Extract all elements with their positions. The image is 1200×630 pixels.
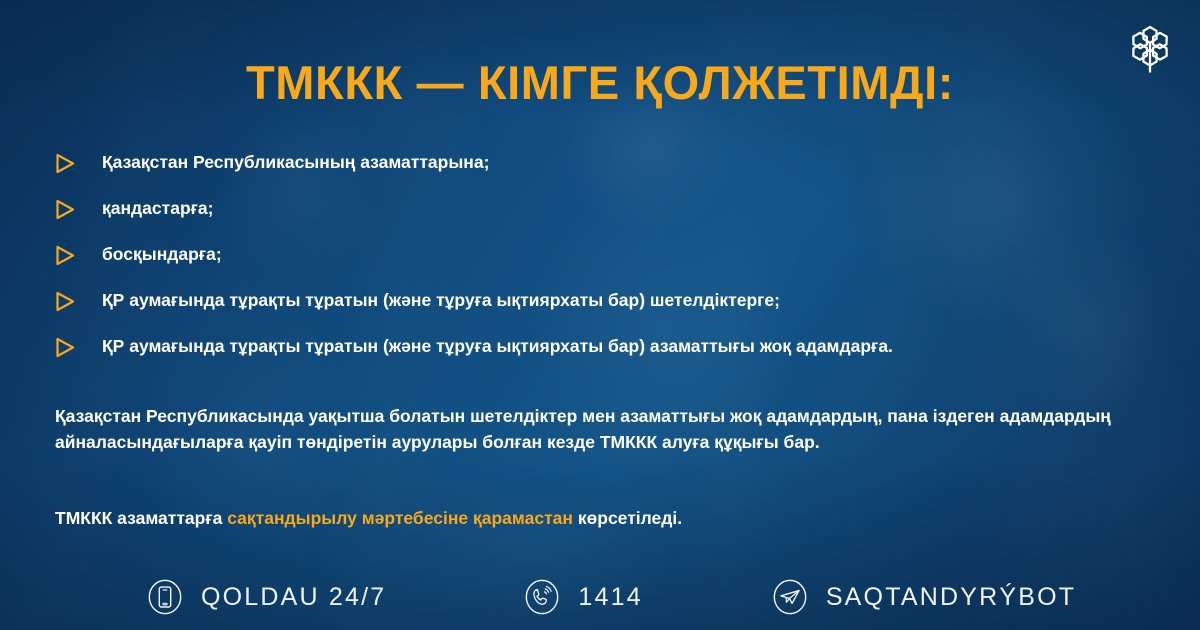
eligibility-list: Қазақстан Республикасының азаматтарына; …: [55, 152, 1155, 362]
smartphone-icon: [146, 578, 184, 616]
list-item: ҚР аумағында тұрақты тұратын (және тұруғ…: [55, 290, 1155, 316]
ringing-phone-icon: [523, 578, 561, 616]
triangle-right-icon: [55, 337, 75, 358]
footer-item-qoldau[interactable]: QOLDAU 24/7: [146, 578, 386, 616]
page-title: ТМККК — КІМГЕ ҚОЛЖЕТІМДІ:: [0, 58, 1200, 109]
list-item-label: ҚР аумағында тұрақты тұратын (және тұруғ…: [102, 290, 780, 312]
footer-label-telegram-bot: SAQTANDYRÝBOT: [826, 583, 1076, 612]
infographic-poster: ТМККК — КІМГЕ ҚОЛЖЕТІМДІ: Қазақстан Респ…: [0, 0, 1200, 630]
note-paragraph-insurance-status: ТМККК азаматтарға сақтандырылу мәртебесі…: [55, 505, 1160, 531]
triangle-right-icon: [55, 153, 75, 174]
triangle-right-icon: [55, 291, 75, 312]
triangle-right-icon: [55, 199, 75, 220]
list-item-label: Қазақстан Республикасының азаматтарына;: [102, 152, 489, 174]
list-item-label: ҚР аумағында тұрақты тұратын (және тұруғ…: [102, 336, 893, 358]
paragraph-prefix: ТМККК азаматтарға: [55, 508, 227, 528]
footer-item-telegram-bot[interactable]: SAQTANDYRÝBOT: [771, 578, 1076, 616]
telegram-plane-icon: [771, 578, 809, 616]
paragraph-highlight: сақтандырылу мәртебесіне қарамастан: [227, 508, 573, 528]
note-paragraph-temporary-residents: Қазақстан Республикасында уақытша болаты…: [55, 403, 1160, 456]
paragraph-suffix: көрсетіледі.: [573, 508, 682, 528]
footer-item-1414[interactable]: 1414: [523, 578, 642, 616]
list-item: қандастарға;: [55, 198, 1155, 224]
list-item: ҚР аумағында тұрақты тұратын (және тұруғ…: [55, 336, 1155, 362]
footer-label-qoldau: QOLDAU 24/7: [201, 583, 386, 612]
list-item: Қазақстан Республикасының азаматтарына;: [55, 152, 1155, 178]
footer-label-1414: 1414: [578, 583, 642, 612]
list-item-label: босқындарға;: [102, 244, 222, 266]
triangle-right-icon: [55, 245, 75, 266]
list-item: босқындарға;: [55, 244, 1155, 270]
list-item-label: қандастарға;: [102, 198, 213, 220]
footer-contact-bar: QOLDAU 24/7 1414: [0, 578, 1200, 616]
